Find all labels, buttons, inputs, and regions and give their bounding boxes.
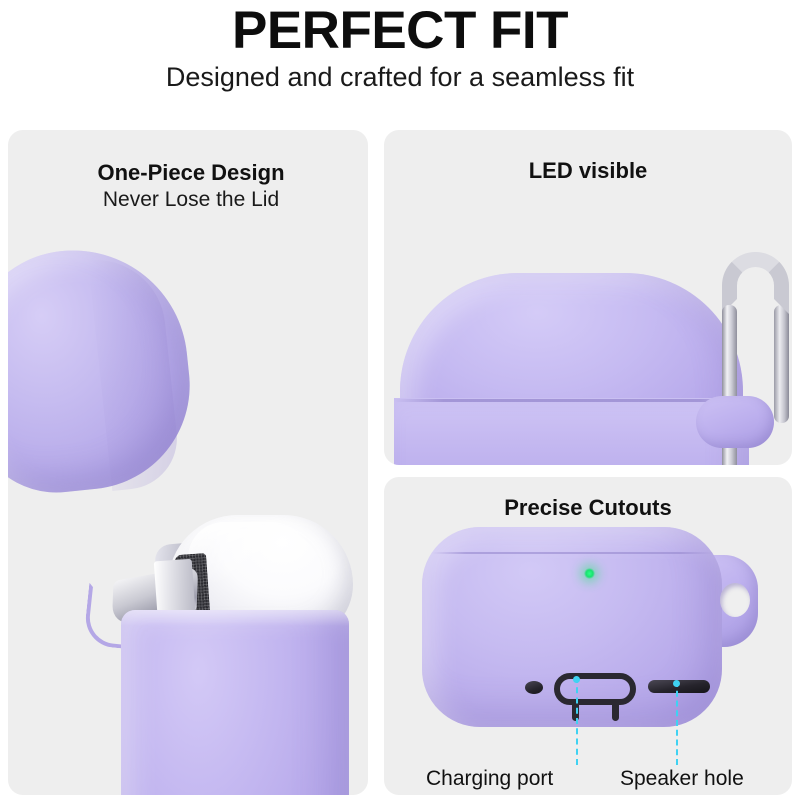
page-subtitle: Designed and crafted for a seamless fit (0, 60, 800, 94)
infographic-root: PERFECT FIT Designed and crafted for a s… (0, 0, 800, 800)
panel-left-heading: One-Piece Design (8, 160, 368, 186)
case-body-shape (121, 610, 349, 795)
led-indicator-icon (584, 568, 595, 579)
callout-label-speaker-hole: Speaker hole (620, 767, 744, 791)
panel-one-piece-design: One-Piece Design Never Lose the Lid (8, 130, 368, 795)
panel-left-subheading: Never Lose the Lid (8, 188, 368, 212)
page-title: PERFECT FIT (0, 2, 800, 60)
panel-led-visible: LED visible (384, 130, 792, 465)
carabiner-right-bar (774, 305, 789, 423)
charging-port-prong-right (612, 699, 619, 721)
panel-precise-cutouts: Precise Cutouts Charging port Speaker ho… (384, 477, 792, 795)
keychain-loop-hole (720, 583, 750, 617)
callout-line-charging-port (576, 677, 578, 765)
panel-top-right-heading: LED visible (384, 158, 792, 184)
callout-label-charging-port: Charging port (426, 767, 553, 791)
silicone-keychain-loop (696, 396, 774, 448)
header: PERFECT FIT Designed and crafted for a s… (0, 0, 800, 122)
case-body-rim-shape (121, 610, 349, 626)
case-seam-line (394, 399, 749, 402)
panel-bottom-right-heading: Precise Cutouts (384, 495, 792, 521)
case-base-shape (394, 398, 749, 465)
case-lid-shape (8, 239, 200, 501)
callout-line-speaker-hole (676, 681, 678, 765)
callout-dot-speaker-hole (673, 680, 680, 687)
open-case-illustration (8, 130, 368, 795)
callout-dot-charging-port (573, 676, 580, 683)
case-cutouts-illustration: Charging port Speaker hole (384, 477, 792, 795)
charging-port-cutout-icon (554, 673, 636, 705)
case-front-seam-line (432, 552, 714, 554)
microphone-cutout-icon (525, 681, 543, 694)
